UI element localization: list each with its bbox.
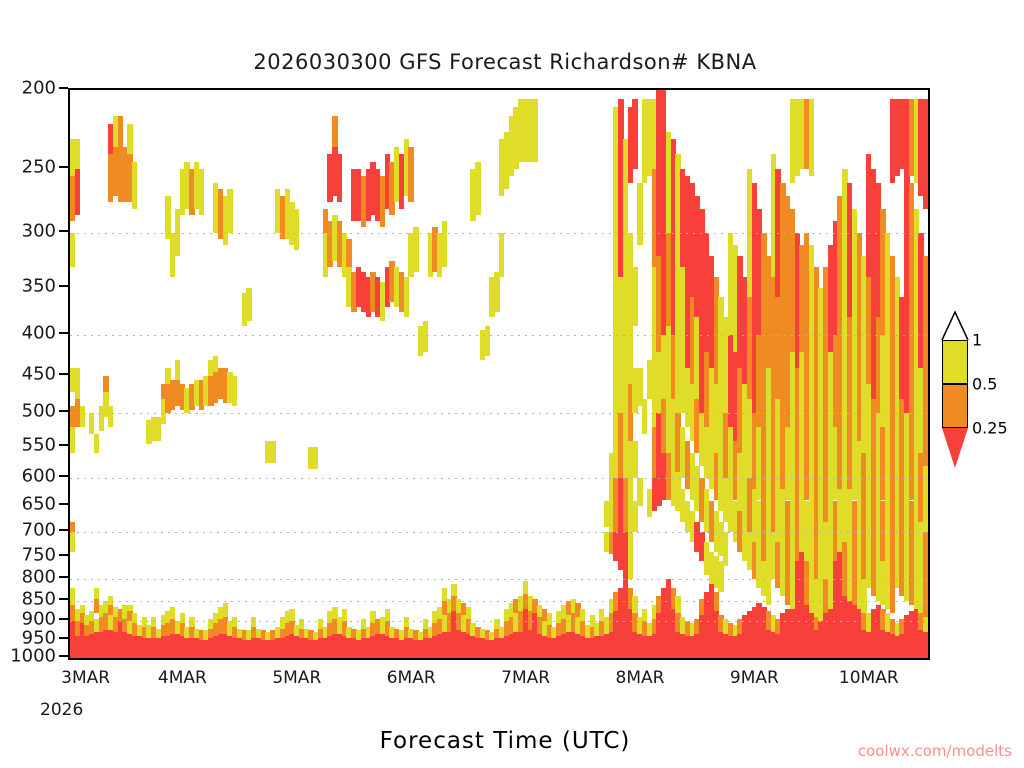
y-tick (59, 655, 68, 657)
y-tick (59, 475, 68, 477)
y-tick (59, 529, 68, 531)
heatmap-cell (523, 581, 528, 594)
y-tick-label: 350 (22, 275, 56, 296)
heatmap-cell (923, 384, 928, 466)
y-axis: 2002503003504004505005506006507007508008… (0, 88, 68, 660)
heatmap-cell (494, 272, 499, 312)
heatmap-cell (294, 209, 299, 251)
heatmap-cell (70, 588, 75, 605)
heatmap-cell (75, 368, 80, 399)
y-tick-label: 750 (22, 544, 56, 565)
heatmap-cell (809, 99, 814, 176)
colorbar: 10.50.25 (938, 312, 972, 472)
x-tick-label: 9MAR (730, 668, 779, 688)
y-tick (59, 410, 68, 412)
heatmap-cell (94, 588, 99, 599)
heatmap-cell (75, 169, 80, 215)
heatmap-cell (451, 584, 456, 597)
heatmap-cell (642, 609, 647, 621)
y-tick-label: 650 (22, 494, 56, 515)
colorbar-label-0.5: 0.5 (972, 375, 997, 394)
x-tick-label: 5MAR (272, 668, 321, 688)
plot-area (68, 88, 930, 660)
colorbar-label-1: 1 (972, 331, 982, 350)
chart-root: 2026030300 GFS Forecast Richardson# KBNA… (0, 0, 1024, 768)
heatmap-cell (628, 542, 633, 579)
heatmap-cell (251, 617, 256, 627)
x-axis-year-label: 2026 (40, 700, 83, 720)
colorbar-under-arrow (942, 428, 968, 468)
y-tick-label: 600 (22, 465, 56, 486)
heatmap-cell (118, 116, 123, 147)
heatmap-cell (232, 376, 237, 406)
heatmap-cell (132, 613, 137, 623)
heatmap-cell (404, 617, 409, 627)
heatmap-cell (923, 649, 928, 658)
y-tick-label: 900 (22, 608, 56, 629)
y-tick-label: 800 (22, 567, 56, 588)
heatmap-cell (923, 466, 928, 532)
heatmap-cell (199, 169, 204, 215)
y-tick-label: 850 (22, 588, 56, 609)
y-tick (59, 598, 68, 600)
x-tick-label: 10MAR (839, 668, 899, 688)
heatmap-cell (70, 233, 75, 267)
heatmap-cell (270, 441, 275, 463)
y-tick (59, 166, 68, 168)
heatmap-cell (675, 596, 680, 612)
heatmap-cell (408, 147, 413, 202)
chart-title: 2026030300 GFS Forecast Richardson# KBNA (0, 50, 1010, 74)
heatmap-cell (70, 522, 75, 532)
heatmap-cell (547, 613, 552, 625)
colorbar-segment-yellow (942, 340, 968, 384)
heatmap-cell (75, 139, 80, 168)
heatmap-cell (485, 326, 490, 356)
heatmap-cell (175, 209, 180, 256)
y-tick (59, 332, 68, 334)
heatmap-cell (723, 532, 728, 566)
heatmap-cell (127, 124, 132, 155)
heatmap-cell (313, 447, 318, 469)
heatmap-cell (332, 116, 337, 147)
heatmap-cell (413, 227, 418, 272)
heatmap-cell (108, 406, 113, 427)
heatmap-cell (246, 288, 251, 322)
heatmap-cell (442, 221, 447, 267)
heatmap-cell (923, 615, 928, 633)
heatmap-cell (923, 532, 928, 588)
y-tick-label: 500 (22, 401, 56, 422)
y-tick (59, 637, 68, 639)
heatmap-cell (580, 609, 585, 621)
y-tick-label: 550 (22, 435, 56, 456)
colorbar-label-0.25: 0.25 (972, 419, 1008, 438)
heatmap-cell (180, 613, 185, 623)
heatmap-cell (423, 321, 428, 352)
y-tick-label: 450 (22, 364, 56, 385)
credit-label: coolwx.com/modelts (858, 742, 1012, 760)
heatmap-cell (466, 607, 471, 619)
heatmap-cell (923, 632, 928, 649)
y-tick (59, 618, 68, 620)
heatmap-cell (175, 360, 180, 380)
heatmap-cell (718, 561, 723, 592)
heatmap-cell (127, 605, 132, 611)
heatmap-cell (637, 183, 642, 245)
heatmap-cell (923, 99, 928, 209)
heatmap-cell (475, 162, 480, 215)
heatmap-cell (151, 617, 156, 627)
heatmap-cell (223, 603, 228, 617)
heatmap-cell (103, 376, 108, 391)
x-tick-label: 7MAR (501, 668, 550, 688)
y-tick-label: 400 (22, 322, 56, 343)
heatmap-cell (385, 609, 390, 621)
heatmap-cell (227, 189, 232, 233)
heatmap-cell (632, 99, 637, 169)
x-tick-label: 8MAR (616, 668, 665, 688)
heatmap-cell (923, 256, 928, 384)
colorbar-segment-orange (942, 384, 968, 428)
heatmap-cell (337, 154, 342, 202)
y-tick-label: 1000 (10, 646, 56, 667)
heatmap-cell (189, 617, 194, 627)
heatmap-cell (89, 413, 94, 434)
colorbar-over-arrow-outline (942, 312, 976, 342)
x-tick-label: 6MAR (387, 668, 436, 688)
heatmap-cells (70, 90, 928, 658)
heatmap-cell (923, 588, 928, 617)
x-tick-label: 3MAR (61, 668, 110, 688)
heatmap-cell (108, 596, 113, 604)
x-tick-label: 4MAR (158, 668, 207, 688)
y-tick-label: 250 (22, 156, 56, 177)
heatmap-cell (346, 239, 351, 267)
heatmap-cell (132, 162, 137, 209)
heatmap-cell (342, 609, 347, 621)
y-tick-label: 300 (22, 221, 56, 242)
heatmap-cell (632, 596, 637, 612)
y-tick (59, 554, 68, 556)
heatmap-cell (70, 427, 75, 453)
heatmap-cell (632, 441, 637, 478)
y-tick-label: 200 (22, 78, 56, 99)
y-tick (59, 373, 68, 375)
heatmap-cell (532, 99, 537, 162)
y-tick (59, 503, 68, 505)
heatmap-cell (80, 406, 85, 427)
heatmap-cell (499, 233, 504, 277)
heatmap-cell (714, 592, 719, 611)
y-tick (59, 87, 68, 89)
heatmap-cell (632, 267, 637, 326)
heatmap-cell (289, 609, 294, 621)
heatmap-cell (232, 617, 237, 627)
x-axis: 3MAR4MAR5MAR6MAR7MAR8MAR9MAR10MAR (68, 660, 930, 720)
heatmap-cell (299, 619, 304, 629)
heatmap-cell (404, 277, 409, 316)
y-tick (59, 576, 68, 578)
heatmap-cell (642, 399, 647, 434)
y-tick-label: 700 (22, 520, 56, 541)
heatmap-cell (70, 532, 75, 552)
y-tick (59, 230, 68, 232)
y-tick (59, 285, 68, 287)
y-tick (59, 444, 68, 446)
heatmap-cell (170, 607, 175, 619)
heatmap-cell (637, 478, 642, 506)
heatmap-cell (80, 605, 85, 613)
heatmap-cell (94, 434, 99, 453)
